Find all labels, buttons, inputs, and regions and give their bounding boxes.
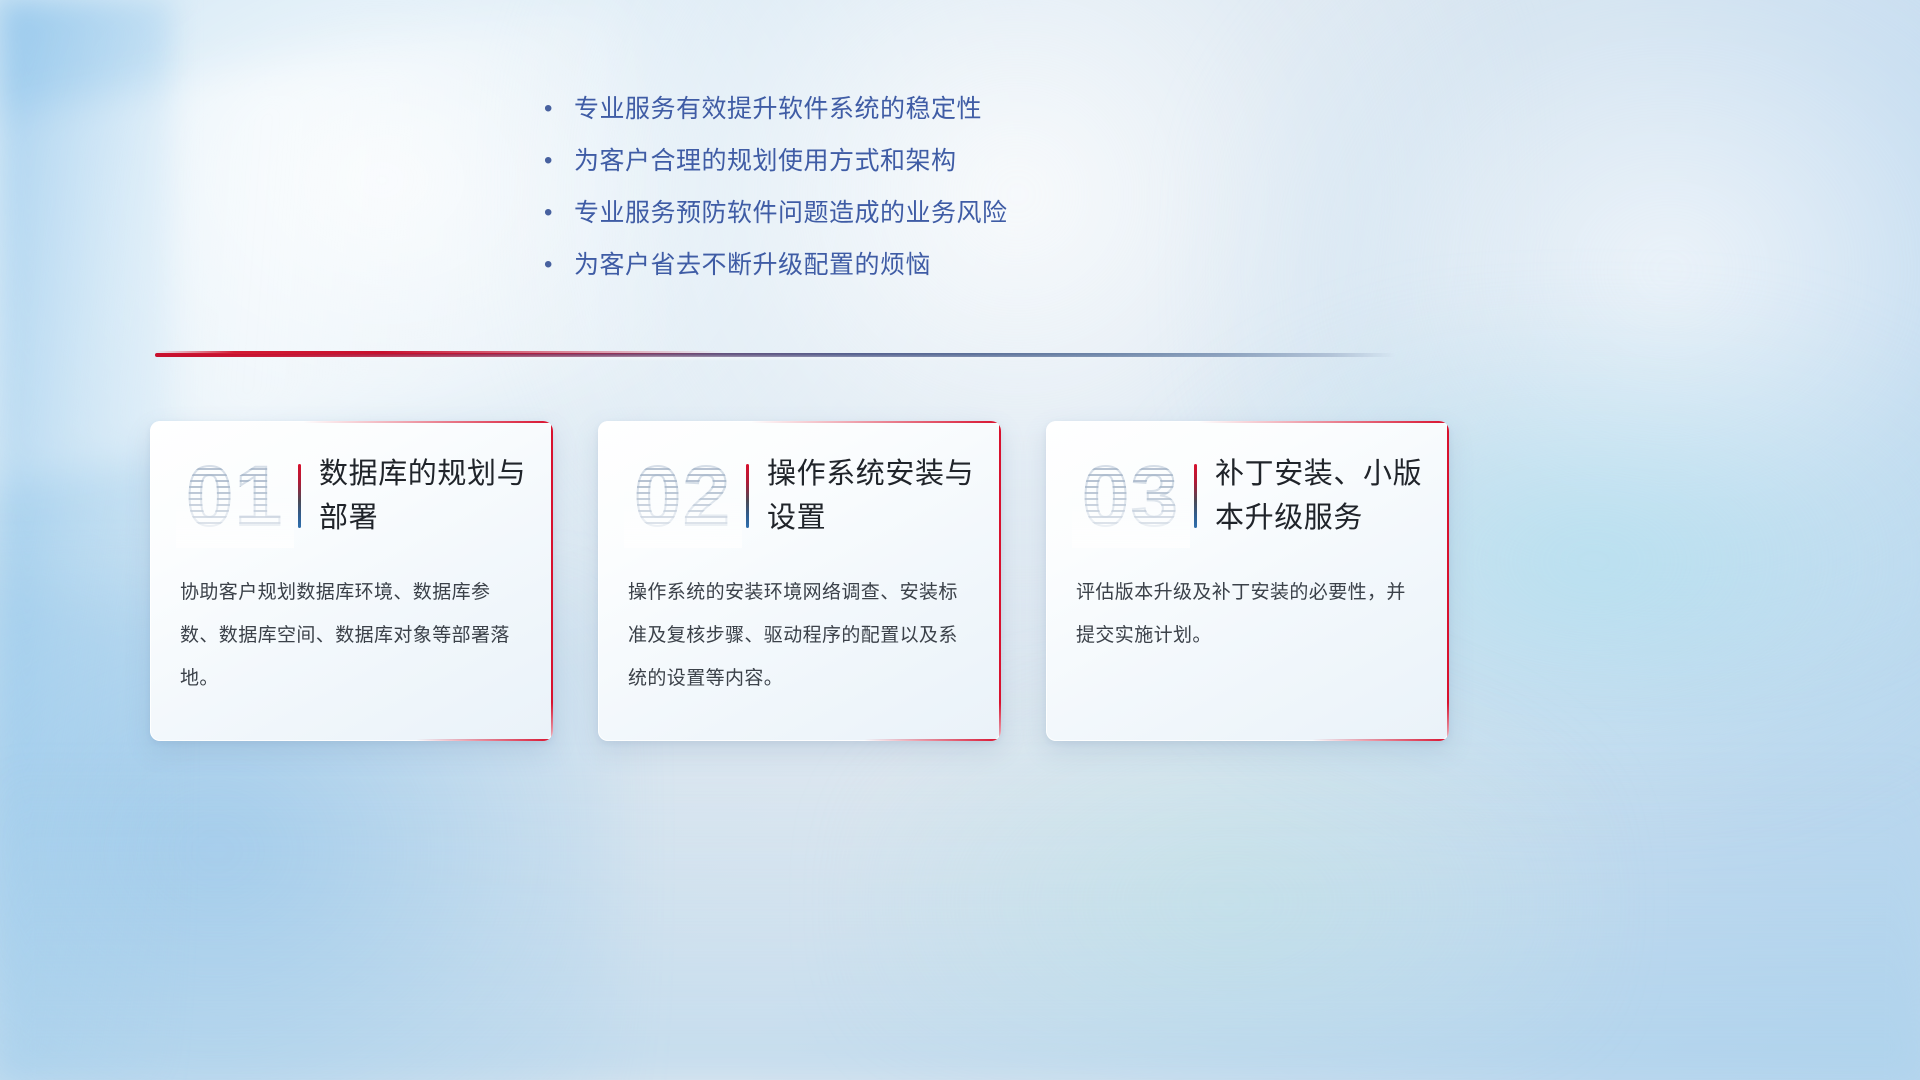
divider-sheen xyxy=(180,356,1370,359)
card-number: 03 xyxy=(1072,444,1190,548)
list-item: • 专业服务有效提升软件系统的稳定性 xyxy=(540,92,1180,144)
card-title: 操作系统安装与设置 xyxy=(767,452,1001,540)
card-title: 数据库的规划与部署 xyxy=(319,452,553,540)
bullet-text: 为客户合理的规划使用方式和架构 xyxy=(574,144,957,178)
service-card-03[interactable]: 03 补丁安装、小版本升级服务 评估版本升级及补丁安装的必要性，并提交实施计划。 xyxy=(1046,421,1449,741)
card-divider-bar xyxy=(1194,464,1197,528)
bullet-text: 专业服务预防软件问题造成的业务风险 xyxy=(574,196,1008,230)
service-card-row: 01 数据库的规划与部署 协助客户规划数据库环境、数据库参数、数据库空间、数据库… xyxy=(150,421,1449,741)
card-description: 操作系统的安装环境网络调查、安装标准及复核步骤、驱动程序的配置以及系统的设置等内… xyxy=(598,571,1001,700)
list-item: • 为客户合理的规划使用方式和架构 xyxy=(540,144,1180,196)
card-header: 03 补丁安装、小版本升级服务 xyxy=(1046,421,1449,571)
card-number: 01 xyxy=(176,444,294,548)
card-accent-bottom xyxy=(1312,739,1449,741)
bullet-marker-icon: • xyxy=(540,144,574,178)
card-description: 评估版本升级及补丁安装的必要性，并提交实施计划。 xyxy=(1046,571,1449,657)
card-accent-bottom xyxy=(416,739,553,741)
service-card-01[interactable]: 01 数据库的规划与部署 协助客户规划数据库环境、数据库参数、数据库空间、数据库… xyxy=(150,421,553,741)
bullet-marker-icon: • xyxy=(540,196,574,230)
card-description: 协助客户规划数据库环境、数据库参数、数据库空间、数据库对象等部署落地。 xyxy=(150,571,553,700)
section-divider xyxy=(155,351,1395,359)
list-item: • 为客户省去不断升级配置的烦恼 xyxy=(540,248,1180,300)
card-header: 01 数据库的规划与部署 xyxy=(150,421,553,571)
card-header: 02 操作系统安装与设置 xyxy=(598,421,1001,571)
card-accent-bottom xyxy=(864,739,1001,741)
card-number: 02 xyxy=(624,444,742,548)
card-divider-bar xyxy=(298,464,301,528)
card-title: 补丁安装、小版本升级服务 xyxy=(1215,452,1449,540)
divider-red-highlight xyxy=(155,351,725,354)
service-card-02[interactable]: 02 操作系统安装与设置 操作系统的安装环境网络调查、安装标准及复核步骤、驱动程… xyxy=(598,421,1001,741)
card-divider-bar xyxy=(746,464,749,528)
background-bottom-haze xyxy=(0,756,1920,1080)
bullet-marker-icon: • xyxy=(540,92,574,126)
bullet-text: 为客户省去不断升级配置的烦恼 xyxy=(574,248,931,282)
bullet-marker-icon: • xyxy=(540,248,574,282)
slide-canvas: • 专业服务有效提升软件系统的稳定性 • 为客户合理的规划使用方式和架构 • 专… xyxy=(0,0,1920,1080)
benefits-bullet-list: • 专业服务有效提升软件系统的稳定性 • 为客户合理的规划使用方式和架构 • 专… xyxy=(540,92,1180,300)
bullet-text: 专业服务有效提升软件系统的稳定性 xyxy=(574,92,982,126)
list-item: • 专业服务预防软件问题造成的业务风险 xyxy=(540,196,1180,248)
